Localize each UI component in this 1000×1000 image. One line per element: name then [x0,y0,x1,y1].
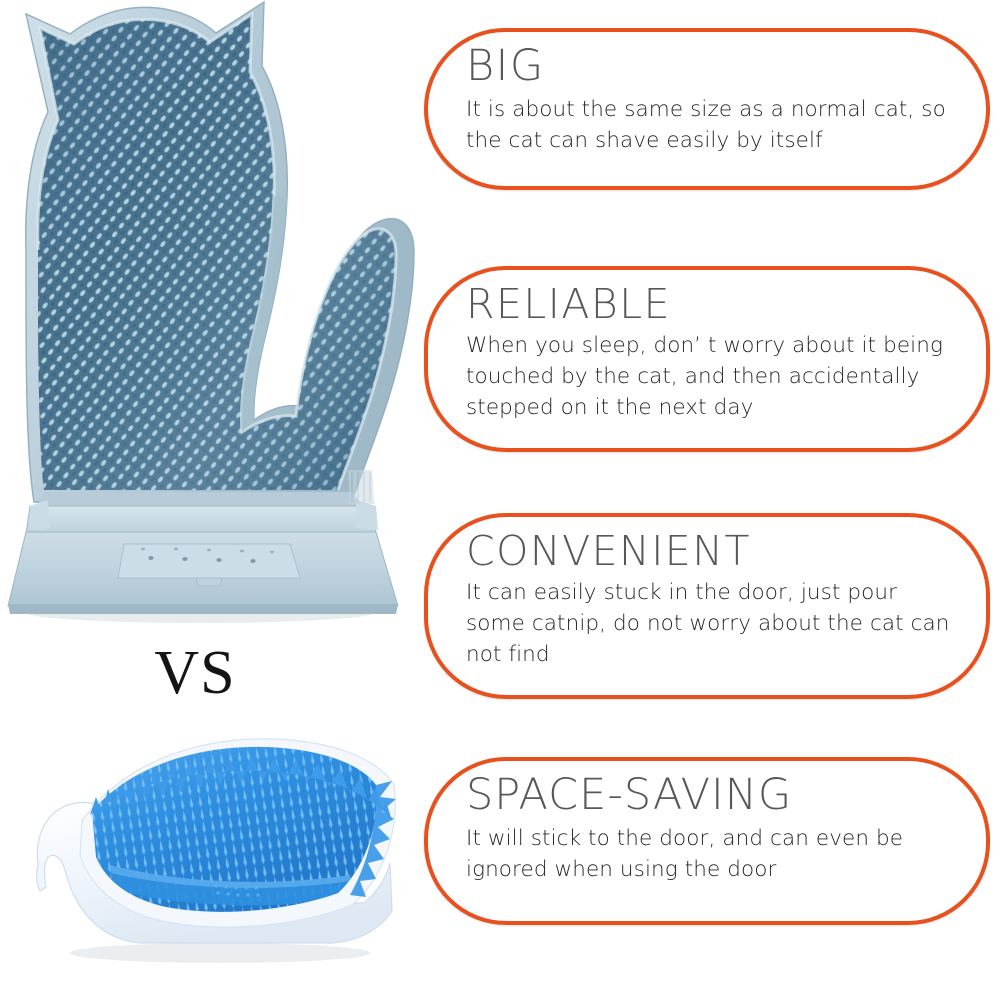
feature-card-list: BIG It is about the same size as a norma… [418,0,1000,1000]
feature-title: RELIABLE [466,278,956,330]
base-ribs [348,470,374,504]
cat-shaped-groomer-image [0,0,420,640]
corner-groomer-illustration [20,715,410,975]
feature-title: SPACE-SAVING [466,769,956,821]
feature-description: When you sleep, don’ t worry about it be… [466,330,956,423]
feature-title: CONVENIENT [466,525,956,577]
product-comparison-column: VS [0,0,420,1000]
feature-card-convenient: CONVENIENT It can easily stuck in the do… [424,513,990,699]
feature-card-space-saving: SPACE-SAVING It will stick to the door, … [424,757,990,925]
feature-card-reliable: RELIABLE When you sleep, don’ t worry ab… [424,266,990,452]
corner-groomer-image [20,715,410,975]
cat-groomer-illustration [0,0,420,640]
feature-description: It can easily stuck in the door, just po… [466,577,956,670]
feature-title: BIG [466,40,956,92]
feature-card-big: BIG It is about the same size as a norma… [424,28,990,190]
feature-description: It is about the same size as a normal ca… [466,94,956,156]
corner-groomer-shadow [70,943,370,963]
feature-description: It will stick to the door, and can even … [466,823,956,885]
vs-label: VS [140,638,250,708]
